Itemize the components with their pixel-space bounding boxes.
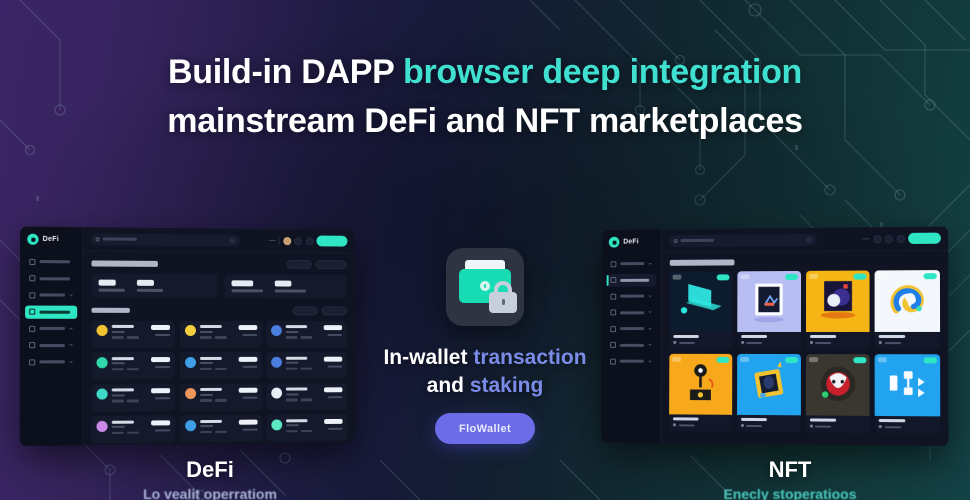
coin-apy	[324, 356, 342, 361]
nft-card[interactable]	[669, 271, 732, 349]
nft-title	[809, 418, 835, 422]
more-icon[interactable]	[862, 238, 869, 240]
search-input[interactable]	[90, 233, 240, 246]
chevron-down-icon	[648, 360, 652, 362]
chevron-down-icon	[69, 327, 73, 329]
chevron-down-icon	[648, 311, 652, 313]
nft-title	[879, 335, 906, 338]
coin-apy	[324, 418, 342, 423]
coin-name	[286, 356, 307, 359]
defi-section-title	[91, 260, 157, 266]
flowallet-button-label: FloWallet	[459, 423, 511, 435]
sidebar-item-label	[39, 293, 65, 296]
sidebar-item-label	[39, 327, 65, 330]
coin-name	[286, 419, 308, 422]
sidebar-item-label	[39, 310, 70, 313]
grid-icon	[611, 261, 617, 267]
staking-card[interactable]	[266, 352, 347, 379]
eth-icon	[879, 425, 882, 428]
search-icon	[96, 237, 100, 241]
staking-card[interactable]	[180, 383, 262, 410]
eth-icon	[809, 341, 812, 344]
sidebar-item-discover[interactable]	[25, 272, 77, 285]
nft-chip	[808, 357, 817, 362]
coin-icon	[97, 325, 108, 336]
coin-tvl	[155, 397, 170, 399]
sidebar-item-label	[620, 262, 644, 265]
nft-artwork	[737, 354, 801, 415]
stat	[274, 281, 305, 293]
coin-icon	[271, 356, 282, 367]
nft-artwork	[737, 271, 801, 332]
defi-brand: DeFi	[25, 234, 77, 246]
sidebar-item-label	[620, 311, 644, 314]
nft-price	[746, 425, 762, 427]
sidebar-item-overview[interactable]	[25, 255, 77, 268]
chevron-down-icon	[69, 294, 73, 296]
sidebar-item-network[interactable]	[606, 355, 656, 368]
nft-card[interactable]	[737, 271, 801, 349]
eth-icon	[879, 341, 882, 344]
nft-title	[741, 418, 767, 422]
coin-apy	[151, 388, 170, 393]
staking-title	[91, 307, 129, 312]
store-icon	[29, 325, 35, 331]
coin-tvl	[328, 334, 343, 336]
sidebar-item-label	[39, 344, 65, 347]
coin-icon	[185, 356, 196, 367]
nft-card[interactable]	[875, 354, 940, 434]
defi-caption: DeFi Lo vealit operratiom	[80, 458, 340, 500]
nft-caption: NFT Enecly stoperatioos	[660, 458, 920, 500]
store-icon	[610, 309, 616, 315]
eth-icon	[741, 341, 744, 344]
eth-icon	[673, 424, 676, 427]
grid-icon	[29, 258, 35, 264]
eth-icon	[741, 424, 744, 427]
coin-icon	[185, 388, 196, 399]
defi-section-header	[91, 258, 346, 269]
center-feature: In-wallet transaction and staking FloWal…	[370, 248, 600, 444]
nft-topbar	[662, 226, 948, 253]
nft-card[interactable]	[805, 270, 869, 349]
nft-chip	[809, 274, 818, 279]
coin-icon	[184, 325, 195, 336]
eth-icon	[673, 341, 676, 344]
nft-sidebar: DeFi	[601, 229, 662, 443]
defi-brand-label: DeFi	[43, 236, 59, 243]
coin-apy	[238, 388, 257, 393]
bell-icon[interactable]	[873, 235, 881, 243]
sidebar-item-label	[620, 278, 649, 281]
swap-icon	[29, 292, 35, 298]
stat	[231, 280, 263, 292]
nft-card[interactable]	[805, 354, 869, 433]
coin-apy	[238, 325, 257, 330]
staking-card[interactable]	[91, 384, 175, 412]
eth-icon	[809, 425, 812, 428]
nft-buy-badge[interactable]	[716, 274, 729, 280]
nft-chip	[672, 357, 681, 362]
coin-symbol	[286, 393, 299, 395]
nft-artwork	[875, 270, 940, 332]
compass-icon	[611, 277, 617, 283]
stat	[99, 280, 125, 292]
nft-buy-badge[interactable]	[924, 357, 937, 363]
nft-price	[885, 426, 901, 428]
staking-card[interactable]	[91, 415, 175, 443]
coin-name	[112, 357, 134, 360]
coin-tvl	[242, 397, 257, 399]
collection-icon	[610, 326, 616, 332]
nft-buy-badge[interactable]	[785, 274, 798, 280]
nft-caption-title: NFT	[660, 458, 920, 482]
coin-symbol	[286, 362, 299, 364]
nft-chip	[740, 274, 749, 279]
defi-topbar-actions	[268, 235, 347, 247]
connect-wallet-button[interactable]	[316, 236, 347, 247]
coin-icon	[271, 419, 282, 430]
coin-name	[112, 388, 134, 391]
nft-price	[815, 425, 831, 427]
sidebar-item-staking[interactable]	[25, 305, 77, 318]
coin-tvl	[242, 428, 257, 430]
sidebar-item-label	[39, 277, 70, 280]
divider	[278, 237, 279, 245]
nft-artwork	[875, 354, 940, 416]
coin-apy	[238, 419, 257, 424]
coin-name	[286, 387, 308, 390]
nft-artwork	[669, 354, 732, 415]
lock-icon	[489, 281, 517, 306]
nft-buy-badge[interactable]	[784, 357, 797, 363]
coin-symbol	[200, 362, 213, 364]
connect-wallet-button[interactable]	[908, 233, 941, 244]
filter-icon[interactable]	[806, 236, 812, 242]
sidebar-item-label	[39, 360, 65, 363]
search-input[interactable]	[669, 233, 817, 246]
sidebar-item-label	[620, 295, 644, 298]
coin-icon	[96, 420, 107, 431]
headline-part-accent: browser deep integration	[403, 53, 802, 91]
coin-name	[112, 325, 134, 328]
sidebar-item-activity[interactable]	[607, 290, 656, 303]
nft-price	[679, 342, 695, 344]
user-icon[interactable]	[896, 234, 904, 242]
sidebar-item-marketplace[interactable]	[25, 322, 77, 335]
nft-buy-badge[interactable]	[854, 357, 867, 363]
defi-main	[83, 227, 355, 445]
activity-icon	[610, 293, 616, 299]
nft-section-header	[670, 258, 940, 266]
bell-icon[interactable]	[294, 237, 302, 245]
chevron-down-icon	[648, 344, 652, 346]
coin-symbol	[200, 425, 213, 427]
coin-name	[200, 419, 222, 422]
defi-header-button-2[interactable]	[316, 260, 347, 269]
coin-symbol	[112, 394, 125, 396]
more-icon[interactable]	[268, 240, 275, 242]
nft-chip	[740, 357, 749, 362]
defi-stats	[91, 274, 346, 299]
coin-apy	[151, 420, 170, 425]
staking-card[interactable]	[266, 383, 347, 410]
sidebar-item-marketplace[interactable]	[606, 306, 655, 319]
defi-header-button-1[interactable]	[286, 260, 311, 269]
nft-card[interactable]	[669, 354, 732, 432]
coin-tvl	[328, 396, 343, 398]
sidebar-item-swap[interactable]	[25, 288, 77, 301]
coin-name	[199, 356, 221, 359]
staking-card[interactable]	[180, 320, 262, 347]
center-text-accent-2: staking	[470, 374, 544, 397]
nft-brand: DeFi	[607, 236, 656, 247]
coin-name	[112, 420, 134, 423]
logo-icon	[27, 234, 38, 245]
folder-icon	[29, 342, 35, 348]
chevron-down-icon	[648, 328, 652, 330]
sidebar-item-label	[40, 260, 71, 263]
stat-card	[91, 274, 217, 298]
nft-price	[885, 342, 901, 344]
coin-symbol	[286, 331, 299, 333]
coin-tvl	[242, 365, 257, 367]
coin-symbol	[112, 426, 125, 428]
compass-icon	[29, 275, 35, 281]
sidebar-item-discover[interactable]	[607, 273, 656, 286]
headline-line-2: mainstream DeFi and NFT marketplaces	[0, 97, 970, 146]
nft-title	[879, 419, 906, 423]
chevron-down-icon	[648, 263, 652, 265]
center-text-white-1: In-wallet	[383, 346, 473, 369]
coin-icon	[96, 388, 107, 399]
avatar[interactable]	[283, 237, 291, 245]
coin-tvl	[155, 334, 170, 336]
network-icon	[610, 358, 616, 364]
defi-sidebar: DeFi	[20, 227, 84, 447]
staking-section-header	[91, 305, 346, 315]
coin-tvl	[155, 366, 170, 368]
coin-icon	[185, 420, 196, 431]
nft-topbar-actions	[862, 233, 940, 245]
nft-chip	[878, 357, 887, 362]
folder-icon	[610, 342, 616, 348]
chevron-down-icon	[648, 295, 652, 297]
coin-name	[200, 388, 222, 391]
search-icon	[674, 239, 678, 243]
sidebar-item-network[interactable]	[25, 355, 77, 368]
nft-price	[746, 342, 762, 344]
coin-apy	[324, 387, 342, 392]
page-title: Build-in DAPP browser deep integration m…	[0, 48, 970, 146]
nft-chip	[673, 275, 682, 280]
nft-section-title	[670, 259, 735, 265]
coin-tvl	[328, 365, 343, 367]
nft-price	[678, 424, 694, 426]
sidebar-item-my-stuff[interactable]	[606, 338, 655, 351]
staking-grid	[91, 320, 347, 443]
staking-card[interactable]	[91, 320, 175, 347]
coin-symbol	[286, 424, 299, 426]
nft-grid	[669, 270, 940, 434]
coin-icon	[97, 357, 108, 368]
coin-symbol	[199, 331, 212, 333]
nft-artwork	[805, 270, 869, 331]
coin-apy	[324, 325, 342, 330]
center-text-accent-1: transaction	[473, 346, 586, 369]
chevron-down-icon	[69, 344, 73, 346]
nft-body	[661, 251, 948, 446]
sidebar-item-label	[620, 343, 644, 346]
nft-brand-label: DeFi	[623, 239, 638, 246]
staking-card[interactable]	[266, 321, 347, 348]
staking-card[interactable]	[180, 415, 262, 443]
nft-artwork	[669, 271, 732, 332]
coin-tvl	[242, 334, 257, 336]
network-icon	[29, 359, 35, 365]
nft-chip	[878, 273, 887, 278]
nft-title	[673, 335, 698, 338]
nft-buy-badge[interactable]	[854, 274, 867, 280]
sidebar-item-label	[620, 327, 644, 330]
defi-body	[83, 251, 355, 445]
logo-icon	[609, 237, 620, 248]
nft-main	[661, 226, 948, 446]
stat	[137, 280, 163, 292]
nft-caption-subtitle: Enecly stoperatioos	[660, 486, 920, 500]
sidebar-item-collections[interactable]	[606, 322, 655, 335]
sidebar-item-label	[620, 360, 644, 363]
coin-icon	[271, 325, 282, 336]
nft-buy-badge[interactable]	[716, 357, 729, 363]
coin-icon	[271, 388, 282, 399]
coin-name	[286, 325, 307, 328]
stake-button[interactable]	[292, 306, 317, 315]
nft-app-window[interactable]: DeFi	[601, 226, 949, 446]
coin-symbol	[200, 394, 213, 396]
filter-icon[interactable]	[229, 237, 235, 243]
coin-apy	[238, 356, 257, 361]
nft-card[interactable]	[737, 354, 801, 433]
staking-card[interactable]	[266, 414, 347, 442]
nft-artwork	[805, 354, 869, 416]
coin-symbol	[112, 362, 125, 364]
filters-button[interactable]	[322, 306, 347, 315]
staking-card[interactable]	[91, 352, 175, 379]
sidebar-item-overview[interactable]	[607, 257, 656, 270]
flowallet-button[interactable]: FloWallet	[435, 413, 535, 444]
coin-tvl	[328, 427, 343, 429]
nft-title	[809, 335, 835, 338]
nft-card[interactable]	[875, 270, 940, 349]
chevron-down-icon	[69, 361, 73, 363]
coin-tvl	[155, 429, 170, 431]
defi-caption-subtitle: Lo vealit operratiom	[80, 486, 340, 500]
gear-icon[interactable]	[885, 235, 893, 243]
gear-icon[interactable]	[305, 237, 313, 245]
coin-symbol	[112, 331, 125, 333]
nft-title	[741, 335, 767, 338]
stake-icon	[29, 309, 35, 315]
nft-buy-badge[interactable]	[924, 273, 937, 279]
defi-caption-title: DeFi	[80, 458, 340, 482]
nft-title	[673, 417, 699, 421]
sidebar-item-my-stuff[interactable]	[25, 339, 77, 352]
stat-card	[224, 274, 347, 298]
headline-part-white: Build-in DAPP	[168, 53, 403, 91]
coin-apy	[151, 325, 170, 330]
defi-topbar	[83, 227, 354, 253]
nft-price	[815, 342, 831, 344]
defi-app-window[interactable]: DeFi	[20, 227, 356, 447]
staking-card[interactable]	[180, 352, 262, 379]
coin-apy	[151, 357, 170, 362]
coin-name	[199, 325, 221, 328]
wallet-lock-icon	[446, 248, 524, 326]
center-headline: In-wallet transaction and staking	[370, 344, 600, 399]
center-text-white-2: and	[427, 374, 470, 397]
